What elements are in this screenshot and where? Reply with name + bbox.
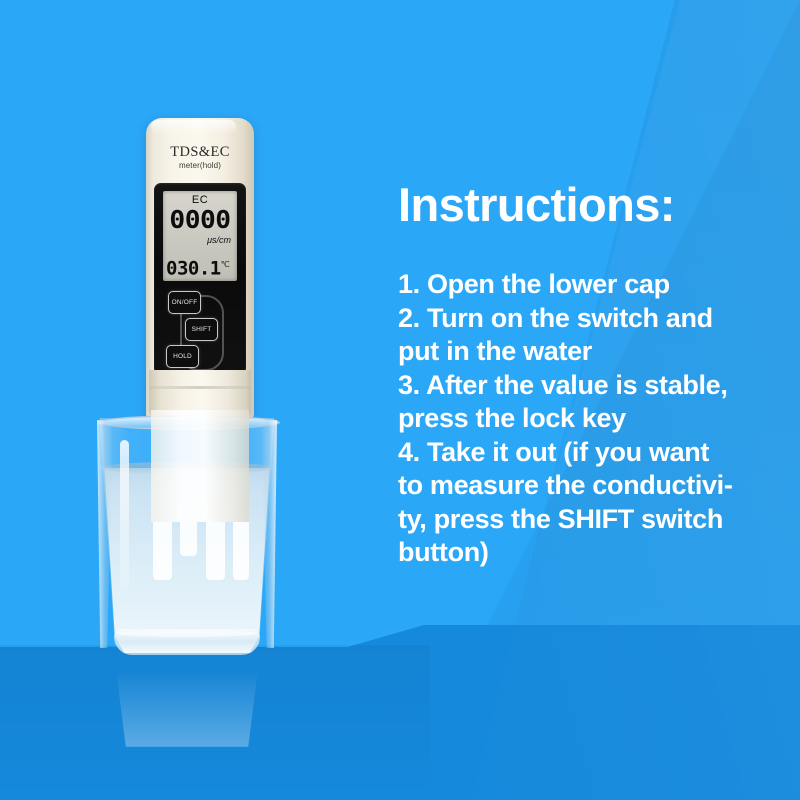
- lcd-temperature-value: 030.1: [166, 257, 221, 279]
- instruction-step: 1. Open the lower cap: [398, 268, 780, 302]
- instruction-step: 2. Turn on the switch and put in the wat…: [398, 302, 780, 369]
- glass-base-highlight: [116, 630, 258, 637]
- meter-brand-label: TDS&EC: [146, 144, 254, 161]
- lcd-temperature: 030.1℃: [166, 255, 229, 278]
- meter-cap-seam: [150, 386, 250, 389]
- glass-rim: [98, 415, 280, 430]
- shift-button[interactable]: SHIFT: [185, 318, 218, 341]
- tds-ec-meter: TDS&EC meter(hold) EC 0000 μs/cm 030.1℃ …: [146, 118, 254, 418]
- lcd-temperature-unit: ℃: [221, 260, 229, 269]
- water-glass: [92, 418, 282, 653]
- instructions-steps: 1. Open the lower cap 2. Turn on the swi…: [398, 268, 780, 570]
- meter-bezel: EC 0000 μs/cm 030.1℃ ON/OFF SHIFT HOLD: [154, 183, 246, 375]
- meter-lower-cap: [149, 370, 251, 418]
- instructions-title: Instructions:: [398, 180, 780, 230]
- lcd-unit-label: μs/cm: [207, 235, 231, 245]
- meter-brand-subtitle: meter(hold): [146, 161, 254, 170]
- meter-keypad: ON/OFF SHIFT HOLD: [154, 287, 246, 375]
- lcd-display: EC 0000 μs/cm 030.1℃: [163, 191, 237, 281]
- instruction-step: 3. After the value is stable, press the …: [398, 369, 780, 436]
- instructions-panel: Instructions: 1. Open the lower cap 2. T…: [398, 180, 780, 570]
- glass-reflection: [102, 655, 272, 747]
- instruction-step: 4. Take it out (if you want to measure t…: [398, 436, 780, 570]
- on-off-button[interactable]: ON/OFF: [168, 291, 201, 314]
- glass-vertical-highlight: [120, 440, 129, 590]
- product-instruction-infographic: TDS&EC meter(hold) EC 0000 μs/cm 030.1℃ …: [0, 0, 800, 800]
- hold-button[interactable]: HOLD: [166, 345, 199, 368]
- lcd-reading-value: 0000: [161, 207, 239, 232]
